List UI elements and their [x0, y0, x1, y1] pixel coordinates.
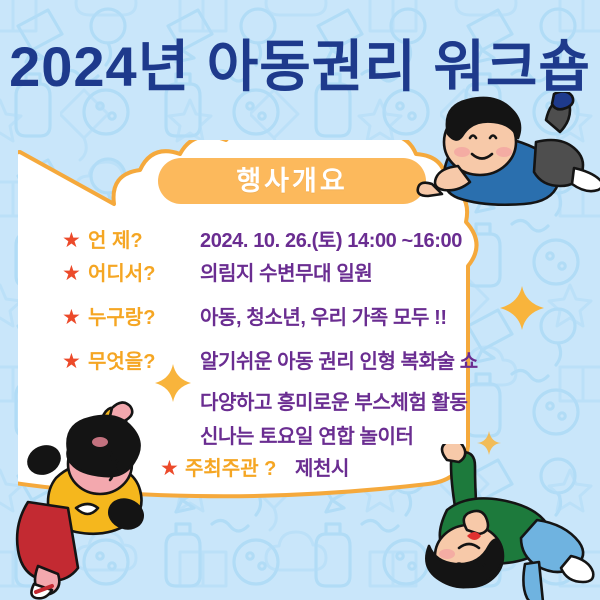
- illustration-boy-lying-bottom-right: [395, 444, 600, 600]
- illustration-girl-lying-bottom-left: [14, 398, 199, 600]
- event-overview-badge: 행사개요: [158, 158, 426, 204]
- info-value-organizer: 제천시: [295, 452, 349, 481]
- poster-canvas: 2024년 아동권리 워크숍 행사개요 ★ 언 제? 2024. 10. 26.…: [0, 0, 600, 600]
- poster-title-text: 2024년 아동권리 워크숍: [10, 35, 590, 98]
- star-icon: ★: [62, 230, 88, 251]
- star-icon: ★: [62, 307, 88, 328]
- star-icon: ★: [62, 263, 88, 284]
- info-label-where: 어디서?: [88, 257, 200, 286]
- event-overview-badge-label: 행사개요: [236, 168, 347, 195]
- info-label-organizer: 주최주관 ?: [185, 452, 295, 481]
- info-label-who: 누구랑?: [88, 301, 200, 330]
- info-value-what: 알기쉬운 아동 권리 인형 복화술 쇼: [200, 345, 478, 374]
- info-row-when: ★ 언 제? 2024. 10. 26.(토) 14:00 ~16:00: [62, 224, 562, 257]
- illustration-boy-lying-top-right: [414, 92, 600, 210]
- info-row-who: ★ 누구랑? 아동, 청소년, 우리 가족 모두 !!: [62, 301, 562, 334]
- star-icon: ★: [62, 351, 88, 372]
- info-row-what: ★ 무엇을? 알기쉬운 아동 권리 인형 복화술 쇼: [62, 345, 562, 378]
- info-value-what-cont-1: 다양하고 흥미로운 부스체험 활동: [200, 386, 467, 415]
- info-value-where: 의림지 수변무대 일원: [200, 257, 372, 286]
- info-label-what: 무엇을?: [88, 345, 200, 374]
- info-value-what-cont-2: 신나는 토요일 연합 놀이터: [200, 420, 413, 449]
- info-value-when: 2024. 10. 26.(토) 14:00 ~16:00: [200, 224, 462, 253]
- info-label-when: 언 제?: [88, 224, 200, 253]
- info-value-who: 아동, 청소년, 우리 가족 모두 !!: [200, 301, 447, 330]
- info-row-where: ★ 어디서? 의림지 수변무대 일원: [62, 257, 562, 290]
